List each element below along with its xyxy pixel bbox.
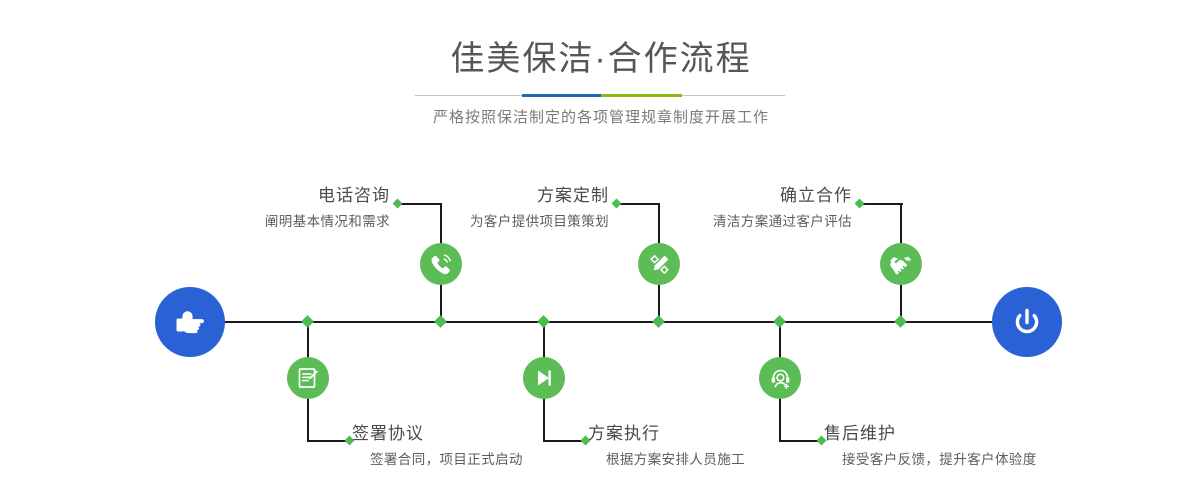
step-title-5: 确立合作 bbox=[516, 187, 852, 206]
step-label-5: 确立合作 清洁方案通过客户评估 bbox=[516, 187, 852, 230]
step-icon-1[interactable] bbox=[420, 243, 462, 285]
timeline-start-endpoint bbox=[155, 287, 225, 357]
step-title-6: 售后维护 bbox=[824, 425, 1174, 444]
process-timeline: 电话咨询 阐明基本情况和需求 签署协议 签署合同，项目正式启动 bbox=[0, 0, 1202, 502]
hand-pointing-icon bbox=[170, 302, 210, 342]
pencil-design-icon bbox=[647, 252, 672, 277]
handshake-icon bbox=[888, 251, 914, 277]
connector-horizontal-step-5 bbox=[860, 203, 903, 205]
step-desc-5: 清洁方案通过客户评估 bbox=[516, 215, 852, 230]
timeline-end-endpoint bbox=[992, 287, 1062, 357]
step-icon-3[interactable] bbox=[638, 243, 680, 285]
step-desc-6: 接受客户反馈，提升客户体验度 bbox=[824, 453, 1174, 468]
step-label-6: 售后维护 接受客户反馈，提升客户体验度 bbox=[824, 425, 1174, 468]
step-icon-4[interactable] bbox=[523, 357, 565, 399]
phone-call-icon bbox=[428, 251, 454, 277]
axis-diamond-step-6 bbox=[773, 315, 786, 328]
step-icon-5[interactable] bbox=[880, 243, 922, 285]
step-icon-6[interactable] bbox=[759, 357, 801, 399]
anchor-diamond-step-5 bbox=[855, 199, 865, 209]
customer-service-icon bbox=[768, 366, 793, 391]
sign-document-icon bbox=[296, 366, 320, 390]
step-icon-2[interactable] bbox=[287, 357, 329, 399]
axis-diamond-step-2 bbox=[301, 315, 314, 328]
play-execute-icon bbox=[532, 366, 556, 390]
axis-diamond-step-4 bbox=[537, 315, 550, 328]
axis-diamond-step-5 bbox=[894, 315, 907, 328]
axis-diamond-step-1 bbox=[434, 315, 447, 328]
power-icon bbox=[1007, 302, 1047, 342]
axis-diamond-step-3 bbox=[652, 315, 665, 328]
